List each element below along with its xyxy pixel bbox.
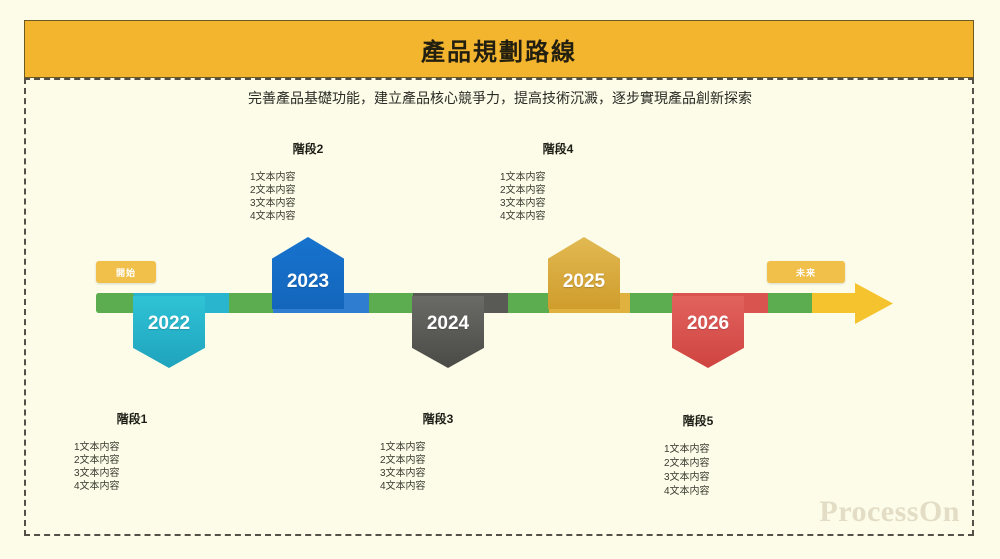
stage-item: 3文本内容 <box>250 197 398 210</box>
stage-items: 1文本内容 2文本内容 3文本内容 4文本内容 <box>348 441 528 493</box>
stage-item: 1文本内容 <box>74 441 222 454</box>
stage-block-1: 階段1 1文本内容 2文本内容 3文本内容 4文本内容 <box>42 410 222 493</box>
stage-item: 3文本内容 <box>380 467 528 480</box>
roadmap-poster: 產品規劃路線 完善產品基礎功能，建立產品核心競爭力，提高技術沉澱，逐步實現產品創… <box>0 0 1000 559</box>
stage-item: 2文本内容 <box>250 184 398 197</box>
milestone-label: 2026 <box>687 313 729 335</box>
milestone-label: 2025 <box>563 271 605 293</box>
badge-start: 開始 <box>96 261 156 283</box>
stage-block-4: 階段4 1文本内容 2文本内容 3文本内容 4文本内容 <box>468 140 648 223</box>
page-title: 產品規劃路線 <box>421 32 577 67</box>
stage-items: 1文本内容 2文本内容 3文本内容 4文本内容 <box>468 171 648 223</box>
milestone-label: 2023 <box>287 271 329 293</box>
badge-future: 未来 <box>767 261 845 283</box>
stage-items: 1文本内容 2文本内容 3文本内容 4文本内容 <box>218 171 398 223</box>
stage-item: 3文本内容 <box>74 467 222 480</box>
header-bar: 產品規劃路線 <box>24 20 974 78</box>
stage-block-3: 階段3 1文本内容 2文本内容 3文本内容 4文本内容 <box>348 410 528 493</box>
stage-item: 2文本内容 <box>500 184 648 197</box>
stage-item: 2文本内容 <box>74 454 222 467</box>
stage-block-5: 階段5 1文本内容 2文本内容 3文本内容 4文本内容 <box>608 412 788 499</box>
stage-items: 1文本内容 2文本内容 3文本内容 4文本内容 <box>42 441 222 493</box>
stage-item: 3文本内容 <box>500 197 648 210</box>
stage-item: 2文本内容 <box>664 457 788 471</box>
stage-title: 階段4 <box>468 140 648 157</box>
stage-item: 4文本内容 <box>500 210 648 223</box>
stage-title: 階段2 <box>218 140 398 157</box>
stage-item: 3文本内容 <box>664 471 788 485</box>
milestone-label: 2024 <box>427 313 469 335</box>
stage-item: 4文本内容 <box>250 210 398 223</box>
stage-title: 階段1 <box>42 410 222 427</box>
stage-item: 1文本内容 <box>664 443 788 457</box>
stage-title: 階段3 <box>348 410 528 427</box>
stage-item: 1文本内容 <box>380 441 528 454</box>
stage-item: 2文本内容 <box>380 454 528 467</box>
subtitle: 完善產品基礎功能，建立產品核心競爭力，提高技術沉澱，逐步實現產品創新探索 <box>0 88 1000 108</box>
stage-item: 1文本内容 <box>250 171 398 184</box>
stage-items: 1文本内容 2文本内容 3文本内容 4文本内容 <box>608 443 788 499</box>
stage-item: 4文本内容 <box>664 485 788 499</box>
stage-item: 4文本内容 <box>380 480 528 493</box>
stage-block-2: 階段2 1文本内容 2文本内容 3文本内容 4文本内容 <box>218 140 398 223</box>
milestone-label: 2022 <box>148 313 190 335</box>
stage-item: 1文本内容 <box>500 171 648 184</box>
stage-item: 4文本内容 <box>74 480 222 493</box>
stage-title: 階段5 <box>608 412 788 429</box>
processon-watermark: ProcessOn <box>819 495 960 529</box>
